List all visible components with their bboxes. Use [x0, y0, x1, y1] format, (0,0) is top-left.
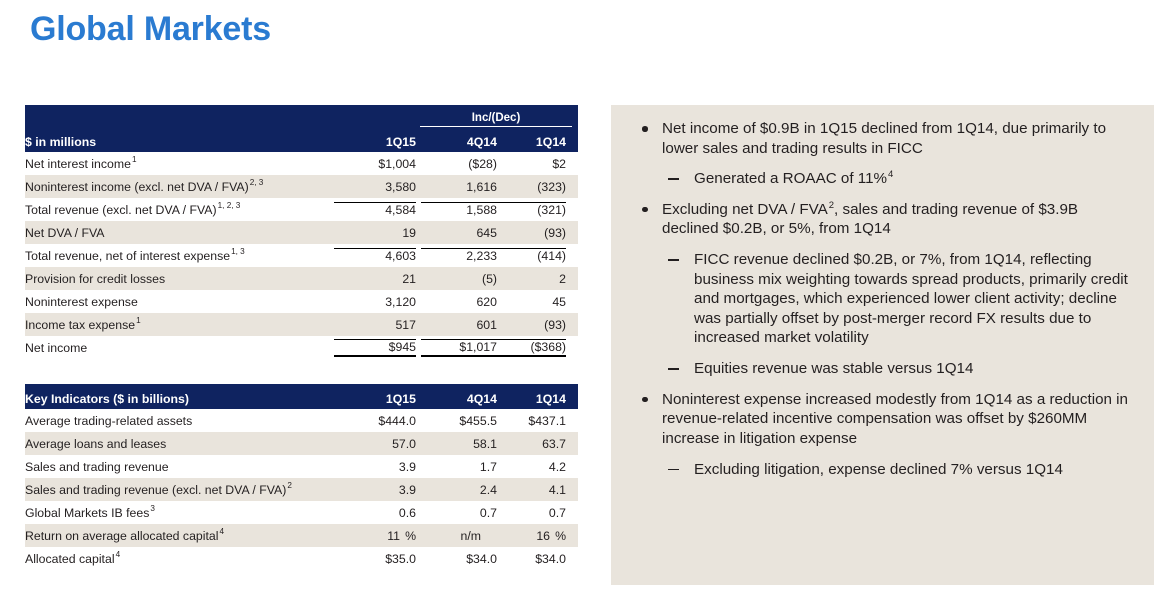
- table-row: Net income$945$1,017($368): [25, 336, 578, 359]
- income-table-label-header: $ in millions: [25, 127, 334, 152]
- value-text: 1.7: [416, 460, 497, 474]
- footnote-marker: 1, 3: [230, 247, 245, 256]
- table-row: Total revenue (excl. net DVA / FVA)1, 2,…: [25, 198, 578, 221]
- row-value: 3.9: [334, 455, 416, 478]
- value-text: 2: [497, 272, 566, 286]
- row-value: 63.7: [497, 432, 578, 455]
- income-table-col-1q15: 1Q15: [334, 127, 416, 152]
- row-value: $2: [497, 152, 578, 175]
- row-label: Average loans and leases: [25, 432, 334, 455]
- row-value: (93): [497, 313, 578, 336]
- row-label: Return on average allocated capital4: [25, 524, 334, 547]
- table-row: Global Markets IB fees30.60.70.7: [25, 501, 578, 524]
- row-value: 4.1: [497, 478, 578, 501]
- spacer-cell: [25, 105, 334, 127]
- inc-dec-group-header: Inc/(Dec): [416, 105, 578, 127]
- row-label: Net income: [25, 336, 334, 359]
- row-value: 19: [334, 221, 416, 244]
- value-text: 517: [334, 318, 416, 332]
- row-label: Net interest income1: [25, 152, 334, 175]
- value-text: (321): [497, 202, 566, 217]
- value-text: $455.5: [416, 414, 497, 428]
- income-table-group-header-row: Inc/(Dec): [25, 105, 578, 127]
- value-text: 0.7: [416, 506, 497, 520]
- table-row: Noninterest income (excl. net DVA / FVA)…: [25, 175, 578, 198]
- row-value: (414): [497, 244, 578, 267]
- row-value: 620: [416, 290, 497, 313]
- row-value: 11%: [334, 524, 416, 547]
- row-value: 3.9: [334, 478, 416, 501]
- row-label: Average trading-related assets: [25, 409, 334, 432]
- value-text: 620: [416, 295, 497, 309]
- value-text: 0.6: [334, 506, 416, 520]
- row-value: 0.7: [497, 501, 578, 524]
- value-text: 3.9: [334, 483, 416, 497]
- row-value: (5): [416, 267, 497, 290]
- footnote-marker: 4: [218, 527, 224, 536]
- row-value: $945: [334, 336, 416, 359]
- table-row: Net interest income1$1,004($28)$2: [25, 152, 578, 175]
- value-text: 1,588: [421, 202, 497, 217]
- value-text: ($368): [497, 339, 566, 357]
- row-value: $455.5: [416, 409, 497, 432]
- sub-bullet-list: FICC revenue declined $0.2B, or 7%, from…: [662, 250, 1138, 379]
- key-indicators-header-row: Key Indicators ($ in billions) 1Q15 4Q14…: [25, 384, 578, 409]
- row-value: $34.0: [416, 547, 497, 570]
- value-text: (323): [497, 180, 566, 194]
- row-value: 1.7: [416, 455, 497, 478]
- value-text: (414): [497, 248, 566, 263]
- sub-bullet-list: Generated a ROAAC of 11%4: [662, 169, 1138, 189]
- value-text: 45: [497, 295, 566, 309]
- commentary-bullet-list: Net income of $0.9B in 1Q15 declined fro…: [625, 119, 1138, 479]
- value-text: 601: [416, 318, 497, 332]
- income-statement-table: Inc/(Dec) $ in millions 1Q15 4Q14 1Q14 N…: [25, 105, 578, 359]
- table-row: Provision for credit losses21(5)2: [25, 267, 578, 290]
- value-text: 21: [334, 272, 416, 286]
- key-indicators-label-header: Key Indicators ($ in billions): [25, 384, 334, 409]
- key-indicators-col-4q14: 4Q14: [416, 384, 497, 409]
- value-text: 2,233: [421, 248, 497, 263]
- footnote-marker: 1, 2, 3: [217, 201, 241, 210]
- value-text: 2.4: [416, 483, 497, 497]
- footnote-marker: 2, 3: [249, 178, 264, 187]
- row-value: 1,588: [416, 198, 497, 221]
- row-value: $34.0: [497, 547, 578, 570]
- row-label: Noninterest expense: [25, 290, 334, 313]
- row-value: $1,017: [416, 336, 497, 359]
- bullet-dot-icon: [642, 207, 648, 213]
- value-text: (5): [416, 272, 497, 286]
- bullet-dash-icon: [668, 259, 679, 261]
- row-value: 645: [416, 221, 497, 244]
- bullet-dot-icon: [642, 126, 648, 132]
- value-text: 57.0: [334, 437, 416, 451]
- row-label: Provision for credit losses: [25, 267, 334, 290]
- value-text: ($28): [416, 157, 497, 171]
- row-value: 4,584: [334, 198, 416, 221]
- row-value: 57.0: [334, 432, 416, 455]
- table-row: Average trading-related assets$444.0$455…: [25, 409, 578, 432]
- row-label: Sales and trading revenue: [25, 455, 334, 478]
- row-value: 4.2: [497, 455, 578, 478]
- value-text: (93): [497, 226, 566, 240]
- value-text: 645: [416, 226, 497, 240]
- row-value: (93): [497, 221, 578, 244]
- bullet-dot-icon: [642, 397, 648, 403]
- value-text: 4.2: [497, 460, 566, 474]
- value-text: $444.0: [334, 414, 416, 428]
- sub-bullet-item: Excluding litigation, expense declined 7…: [662, 460, 1138, 480]
- row-value: 517: [334, 313, 416, 336]
- table-row: Total revenue, net of interest expense1,…: [25, 244, 578, 267]
- row-value: 2: [497, 267, 578, 290]
- value-text: 19: [334, 226, 416, 240]
- value-text: $34.0: [497, 552, 566, 566]
- row-value: 2,233: [416, 244, 497, 267]
- row-value: 0.7: [416, 501, 497, 524]
- row-value: 0.6: [334, 501, 416, 524]
- row-value: 4,603: [334, 244, 416, 267]
- commentary-panel: Net income of $0.9B in 1Q15 declined fro…: [611, 105, 1154, 585]
- row-value: n/m: [416, 524, 497, 547]
- sub-bullet-item: Equities revenue was stable versus 1Q14: [662, 359, 1138, 379]
- value-text: $437.1: [497, 414, 566, 428]
- value-text: 0.7: [497, 506, 566, 520]
- sub-bullet-item: FICC revenue declined $0.2B, or 7%, from…: [662, 250, 1138, 348]
- row-label: Income tax expense1: [25, 313, 334, 336]
- value-text: $1,004: [334, 157, 416, 171]
- sub-bullet-list: Excluding litigation, expense declined 7…: [662, 460, 1138, 480]
- income-table-body: Net interest income1$1,004($28)$2Noninte…: [25, 152, 578, 359]
- key-indicators-col-1q15: 1Q15: [334, 384, 416, 409]
- footnote-marker: 2: [828, 200, 834, 211]
- row-label: Allocated capital4: [25, 547, 334, 570]
- bullet-dash-icon: [668, 368, 679, 370]
- value-text: 4,584: [334, 202, 416, 217]
- value-text: 1,616: [416, 180, 497, 194]
- value-text: $34.0: [416, 552, 497, 566]
- value-text: 3,580: [334, 180, 416, 194]
- row-label: Total revenue, net of interest expense1,…: [25, 244, 334, 267]
- sub-bullet-item: Generated a ROAAC of 11%4: [662, 169, 1138, 189]
- row-value: (323): [497, 175, 578, 198]
- value-text: 58.1: [416, 437, 497, 451]
- bullet-dash-icon: [668, 469, 679, 471]
- table-row: Sales and trading revenue (excl. net DVA…: [25, 478, 578, 501]
- footnote-marker: 1: [131, 155, 137, 164]
- value-text: (93): [497, 318, 566, 332]
- table-spacer: [25, 359, 578, 384]
- key-indicators-table-body: Average trading-related assets$444.0$455…: [25, 409, 578, 570]
- row-value: 1,616: [416, 175, 497, 198]
- row-value: $444.0: [334, 409, 416, 432]
- row-value: $1,004: [334, 152, 416, 175]
- table-row: Noninterest expense3,12062045: [25, 290, 578, 313]
- value-text: 4,603: [334, 248, 416, 263]
- table-row: Average loans and leases57.058.163.7: [25, 432, 578, 455]
- table-row: Allocated capital4$35.0$34.0$34.0: [25, 547, 578, 570]
- value-text: 3.9: [334, 460, 416, 474]
- row-label: Net DVA / FVA: [25, 221, 334, 244]
- bullet-item: Net income of $0.9B in 1Q15 declined fro…: [625, 119, 1138, 189]
- table-row: Net DVA / FVA19645(93): [25, 221, 578, 244]
- value-text: 4.1: [497, 483, 566, 497]
- table-row: Income tax expense1517601(93): [25, 313, 578, 336]
- footnote-marker: 2: [286, 481, 292, 490]
- row-label: Total revenue (excl. net DVA / FVA)1, 2,…: [25, 198, 334, 221]
- row-label: Noninterest income (excl. net DVA / FVA)…: [25, 175, 334, 198]
- bullet-item: Excluding net DVA / FVA2, sales and trad…: [625, 200, 1138, 379]
- value-text: n/m: [416, 529, 497, 543]
- income-table-col-4q14: 4Q14: [416, 127, 497, 152]
- bullet-dash-icon: [668, 178, 679, 180]
- value-text: $945: [334, 339, 416, 357]
- row-value: $35.0: [334, 547, 416, 570]
- row-label: Global Markets IB fees3: [25, 501, 334, 524]
- footnote-marker: 3: [149, 504, 155, 513]
- row-value: 601: [416, 313, 497, 336]
- value-text: 63.7: [497, 437, 566, 451]
- income-table-header-row: $ in millions 1Q15 4Q14 1Q14: [25, 127, 578, 152]
- footnote-marker: 4: [115, 550, 121, 559]
- value-text: $35.0: [334, 552, 416, 566]
- inc-dec-label: Inc/(Dec): [420, 112, 572, 127]
- row-value: 21: [334, 267, 416, 290]
- page-title: Global Markets: [30, 10, 271, 49]
- table-row: Return on average allocated capital411%n…: [25, 524, 578, 547]
- footnote-marker: 1: [135, 316, 141, 325]
- key-indicators-table: Key Indicators ($ in billions) 1Q15 4Q14…: [25, 384, 578, 570]
- bullet-item: Noninterest expense increased modestly f…: [625, 390, 1138, 479]
- value-text: $2: [497, 157, 566, 171]
- row-value: 58.1: [416, 432, 497, 455]
- value-text: 16%: [497, 529, 566, 543]
- row-value: ($368): [497, 336, 578, 359]
- row-value: 3,120: [334, 290, 416, 313]
- row-value: 45: [497, 290, 578, 313]
- row-value: $437.1: [497, 409, 578, 432]
- row-value: 3,580: [334, 175, 416, 198]
- footnote-marker: 4: [887, 169, 893, 180]
- row-label: Sales and trading revenue (excl. net DVA…: [25, 478, 334, 501]
- spacer-cell: [334, 105, 416, 127]
- value-text: $1,017: [421, 339, 497, 357]
- value-text: 3,120: [334, 295, 416, 309]
- row-value: (321): [497, 198, 578, 221]
- row-value: 16%: [497, 524, 578, 547]
- row-value: 2.4: [416, 478, 497, 501]
- income-table-col-1q14: 1Q14: [497, 127, 578, 152]
- row-value: ($28): [416, 152, 497, 175]
- value-text: 11%: [334, 529, 416, 543]
- tables-column: Inc/(Dec) $ in millions 1Q15 4Q14 1Q14 N…: [25, 105, 578, 570]
- table-row: Sales and trading revenue3.91.74.2: [25, 455, 578, 478]
- key-indicators-col-1q14: 1Q14: [497, 384, 578, 409]
